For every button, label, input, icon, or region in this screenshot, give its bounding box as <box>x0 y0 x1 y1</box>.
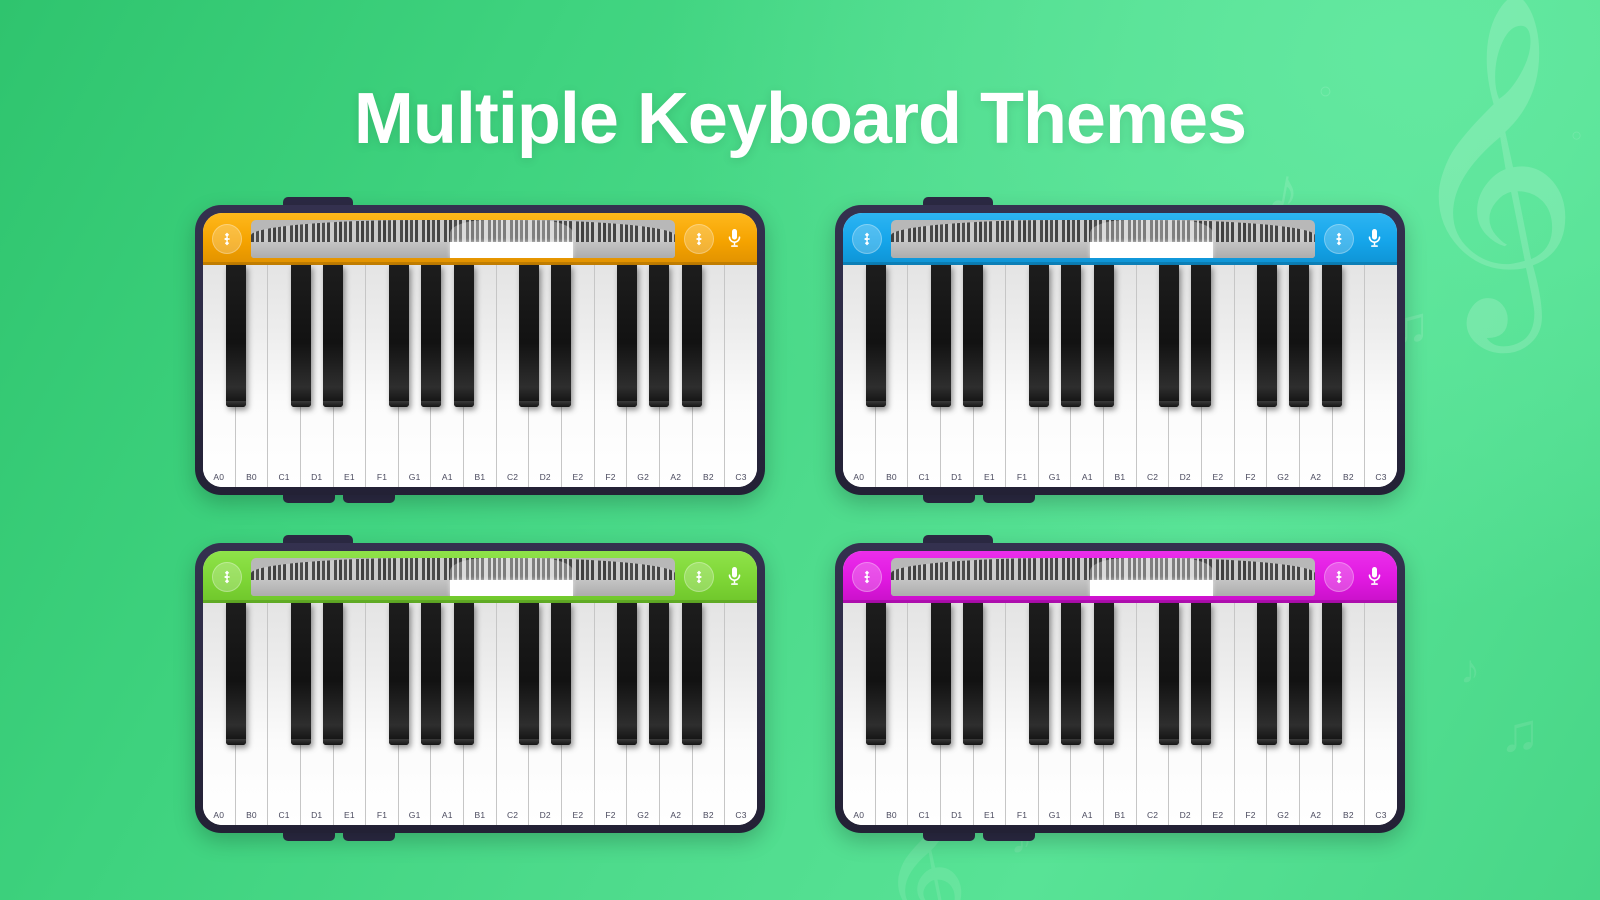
white-key-label: B2 <box>1333 810 1365 820</box>
white-key-label: A0 <box>843 472 875 482</box>
black-key[interactable] <box>931 265 951 407</box>
white-key-label: B2 <box>693 472 725 482</box>
black-key[interactable] <box>1289 603 1309 745</box>
black-key[interactable] <box>389 603 409 745</box>
white-key-label: A1 <box>1071 472 1103 482</box>
white-key-label: A1 <box>1071 810 1103 820</box>
white-key-label: F1 <box>1006 810 1038 820</box>
white-key-label: F1 <box>366 810 398 820</box>
mini-keyboard-range-strip[interactable] <box>891 558 1315 596</box>
white-key-label: A0 <box>843 810 875 820</box>
black-key[interactable] <box>866 603 886 745</box>
white-key-label: E1 <box>974 810 1006 820</box>
black-key[interactable] <box>226 603 246 745</box>
white-key-label: C3 <box>1365 472 1397 482</box>
white-key-label: E2 <box>1202 810 1234 820</box>
keyboard-body: A0B0C1D1E1F1G1A1B1C2D2E2F2G2A2B2C3 <box>843 551 1397 825</box>
black-key[interactable] <box>1029 265 1049 407</box>
white-key[interactable]: C3 <box>725 603 757 825</box>
range-highlight-top <box>1090 558 1213 580</box>
piano-keys-area: A0B0C1D1E1F1G1A1B1C2D2E2F2G2A2B2C3 <box>203 603 757 825</box>
black-key[interactable] <box>1257 603 1277 745</box>
range-highlight-top <box>450 220 573 242</box>
keyboard-shell: A0B0C1D1E1F1G1A1B1C2D2E2F2G2A2B2C3 <box>195 205 765 495</box>
white-key-label: G2 <box>1267 810 1299 820</box>
white-key-label: D1 <box>301 472 333 482</box>
black-key[interactable] <box>1159 603 1179 745</box>
arrow-right-circle-icon[interactable] <box>684 224 714 254</box>
white-key-label: A2 <box>1300 810 1332 820</box>
white-key[interactable]: C3 <box>1365 603 1397 825</box>
black-key[interactable] <box>454 265 474 407</box>
white-key-label: B0 <box>876 810 908 820</box>
range-highlight <box>1090 580 1213 596</box>
white-key-label: D2 <box>529 472 561 482</box>
white-key-label: A1 <box>431 472 463 482</box>
black-key[interactable] <box>519 265 539 407</box>
black-key[interactable] <box>617 603 637 745</box>
keyboard-shell: A0B0C1D1E1F1G1A1B1C2D2E2F2G2A2B2C3 <box>835 205 1405 495</box>
keyboard-body: A0B0C1D1E1F1G1A1B1C2D2E2F2G2A2B2C3 <box>203 213 757 487</box>
keyboard-body: A0B0C1D1E1F1G1A1B1C2D2E2F2G2A2B2C3 <box>203 551 757 825</box>
black-key[interactable] <box>931 603 951 745</box>
white-key-label: E2 <box>562 472 594 482</box>
microphone-icon[interactable] <box>721 224 747 254</box>
black-key[interactable] <box>551 265 571 407</box>
keyboard-header-bar <box>843 213 1397 265</box>
white-key-label: C1 <box>268 810 300 820</box>
arrow-right-circle-icon[interactable] <box>1324 224 1354 254</box>
white-key-label: E1 <box>974 472 1006 482</box>
white-key-label: G1 <box>1039 810 1071 820</box>
black-key[interactable] <box>1061 265 1081 407</box>
mini-keyboard-range-strip[interactable] <box>251 558 675 596</box>
black-key[interactable] <box>963 265 983 407</box>
keyboard-body: A0B0C1D1E1F1G1A1B1C2D2E2F2G2A2B2C3 <box>843 213 1397 487</box>
white-key-label: F2 <box>595 472 627 482</box>
black-key[interactable] <box>1257 265 1277 407</box>
black-key[interactable] <box>323 265 343 407</box>
black-key[interactable] <box>963 603 983 745</box>
white-key-label: B2 <box>693 810 725 820</box>
piano-keys-area: A0B0C1D1E1F1G1A1B1C2D2E2F2G2A2B2C3 <box>843 603 1397 825</box>
white-key[interactable]: C3 <box>1365 265 1397 487</box>
white-keys-row: A0B0C1D1E1F1G1A1B1C2D2E2F2G2A2B2C3 <box>843 265 1397 487</box>
range-highlight <box>450 242 573 258</box>
arrow-right-circle-icon[interactable] <box>1324 562 1354 592</box>
black-key[interactable] <box>551 603 571 745</box>
black-key[interactable] <box>421 265 441 407</box>
black-key[interactable] <box>1322 265 1342 407</box>
white-key-label: C3 <box>725 810 757 820</box>
black-key[interactable] <box>649 603 669 745</box>
white-key-label: D1 <box>941 810 973 820</box>
white-key-label: B2 <box>1333 472 1365 482</box>
keyboard-header-bar <box>843 551 1397 603</box>
keyboard-themes-grid: A0B0C1D1E1F1G1A1B1C2D2E2F2G2A2B2C3A0B0C1… <box>0 205 1600 833</box>
white-key-label: A0 <box>203 472 235 482</box>
arrow-left-circle-icon[interactable] <box>212 562 242 592</box>
black-key[interactable] <box>389 265 409 407</box>
arrow-left-circle-icon[interactable] <box>852 562 882 592</box>
white-key-label: B1 <box>464 810 496 820</box>
black-key[interactable] <box>649 265 669 407</box>
white-key-label: E1 <box>334 472 366 482</box>
range-highlight-top <box>1090 220 1213 242</box>
black-key[interactable] <box>617 265 637 407</box>
white-key-label: F2 <box>595 810 627 820</box>
black-key[interactable] <box>1094 265 1114 407</box>
white-key-label: A2 <box>660 472 692 482</box>
white-key-label: C1 <box>908 472 940 482</box>
white-key-label: G1 <box>1039 472 1071 482</box>
white-key-label: C2 <box>497 472 529 482</box>
keyboard-shell: A0B0C1D1E1F1G1A1B1C2D2E2F2G2A2B2C3 <box>195 543 765 833</box>
white-key-label: C2 <box>497 810 529 820</box>
black-key[interactable] <box>1289 265 1309 407</box>
black-key[interactable] <box>291 265 311 407</box>
white-key[interactable]: C3 <box>725 265 757 487</box>
range-highlight <box>450 580 573 596</box>
white-key-label: F2 <box>1235 472 1267 482</box>
white-key-label: C3 <box>1365 810 1397 820</box>
black-key[interactable] <box>226 265 246 407</box>
white-key-label: B0 <box>236 810 268 820</box>
white-key-label: C1 <box>268 472 300 482</box>
range-highlight-top <box>450 558 573 580</box>
white-key-label: F1 <box>366 472 398 482</box>
white-key-label: E1 <box>334 810 366 820</box>
white-key-label: B1 <box>464 472 496 482</box>
white-key-label: B1 <box>1104 472 1136 482</box>
white-key-label: A0 <box>203 810 235 820</box>
microphone-icon[interactable] <box>1361 224 1387 254</box>
white-key-label: C3 <box>725 472 757 482</box>
white-key-label: G2 <box>627 810 659 820</box>
white-key-label: B0 <box>236 472 268 482</box>
keyboard-theme-card[interactable]: A0B0C1D1E1F1G1A1B1C2D2E2F2G2A2B2C3 <box>835 205 1405 495</box>
black-key[interactable] <box>454 603 474 745</box>
white-key-label: A2 <box>1300 472 1332 482</box>
white-key-label: D2 <box>1169 810 1201 820</box>
keyboard-header-bar <box>203 213 757 265</box>
microphone-icon[interactable] <box>721 562 747 592</box>
keyboard-shell: A0B0C1D1E1F1G1A1B1C2D2E2F2G2A2B2C3 <box>835 543 1405 833</box>
white-key-label: D1 <box>941 472 973 482</box>
black-key[interactable] <box>1159 265 1179 407</box>
keyboard-header-bar <box>203 551 757 603</box>
white-key-label: E2 <box>562 810 594 820</box>
arrow-right-circle-icon[interactable] <box>684 562 714 592</box>
white-key-label: A2 <box>660 810 692 820</box>
microphone-icon[interactable] <box>1361 562 1387 592</box>
white-key-label: D2 <box>529 810 561 820</box>
black-key[interactable] <box>1029 603 1049 745</box>
white-key-label: C1 <box>908 810 940 820</box>
black-key[interactable] <box>323 603 343 745</box>
white-key-label: B1 <box>1104 810 1136 820</box>
keyboard-theme-card[interactable]: A0B0C1D1E1F1G1A1B1C2D2E2F2G2A2B2C3 <box>195 205 765 495</box>
white-key-label: C2 <box>1137 810 1169 820</box>
white-keys-row: A0B0C1D1E1F1G1A1B1C2D2E2F2G2A2B2C3 <box>843 603 1397 825</box>
black-key[interactable] <box>519 603 539 745</box>
white-key-label: G1 <box>399 472 431 482</box>
white-key-label: G1 <box>399 810 431 820</box>
black-key[interactable] <box>866 265 886 407</box>
black-key[interactable] <box>682 265 702 407</box>
white-key-label: D2 <box>1169 472 1201 482</box>
black-key[interactable] <box>1191 603 1211 745</box>
white-key-label: A1 <box>431 810 463 820</box>
black-key[interactable] <box>421 603 441 745</box>
page-title: Multiple Keyboard Themes <box>0 78 1600 160</box>
black-key[interactable] <box>1191 265 1211 407</box>
black-key[interactable] <box>1094 603 1114 745</box>
keyboard-theme-card[interactable]: A0B0C1D1E1F1G1A1B1C2D2E2F2G2A2B2C3 <box>195 543 765 833</box>
keyboard-theme-card[interactable]: A0B0C1D1E1F1G1A1B1C2D2E2F2G2A2B2C3 <box>835 543 1405 833</box>
white-key-label: G2 <box>627 472 659 482</box>
arrow-left-circle-icon[interactable] <box>212 224 242 254</box>
mini-keyboard-range-strip[interactable] <box>891 220 1315 258</box>
white-keys-row: A0B0C1D1E1F1G1A1B1C2D2E2F2G2A2B2C3 <box>203 265 757 487</box>
black-key[interactable] <box>1061 603 1081 745</box>
white-key-label: B0 <box>876 472 908 482</box>
white-key-label: D1 <box>301 810 333 820</box>
black-key[interactable] <box>682 603 702 745</box>
white-key-label: C2 <box>1137 472 1169 482</box>
black-key[interactable] <box>1322 603 1342 745</box>
white-keys-row: A0B0C1D1E1F1G1A1B1C2D2E2F2G2A2B2C3 <box>203 603 757 825</box>
piano-keys-area: A0B0C1D1E1F1G1A1B1C2D2E2F2G2A2B2C3 <box>843 265 1397 487</box>
white-key-label: G2 <box>1267 472 1299 482</box>
white-key-label: E2 <box>1202 472 1234 482</box>
piano-keys-area: A0B0C1D1E1F1G1A1B1C2D2E2F2G2A2B2C3 <box>203 265 757 487</box>
arrow-left-circle-icon[interactable] <box>852 224 882 254</box>
black-key[interactable] <box>291 603 311 745</box>
white-key-label: F2 <box>1235 810 1267 820</box>
range-highlight <box>1090 242 1213 258</box>
white-key-label: F1 <box>1006 472 1038 482</box>
mini-keyboard-range-strip[interactable] <box>251 220 675 258</box>
